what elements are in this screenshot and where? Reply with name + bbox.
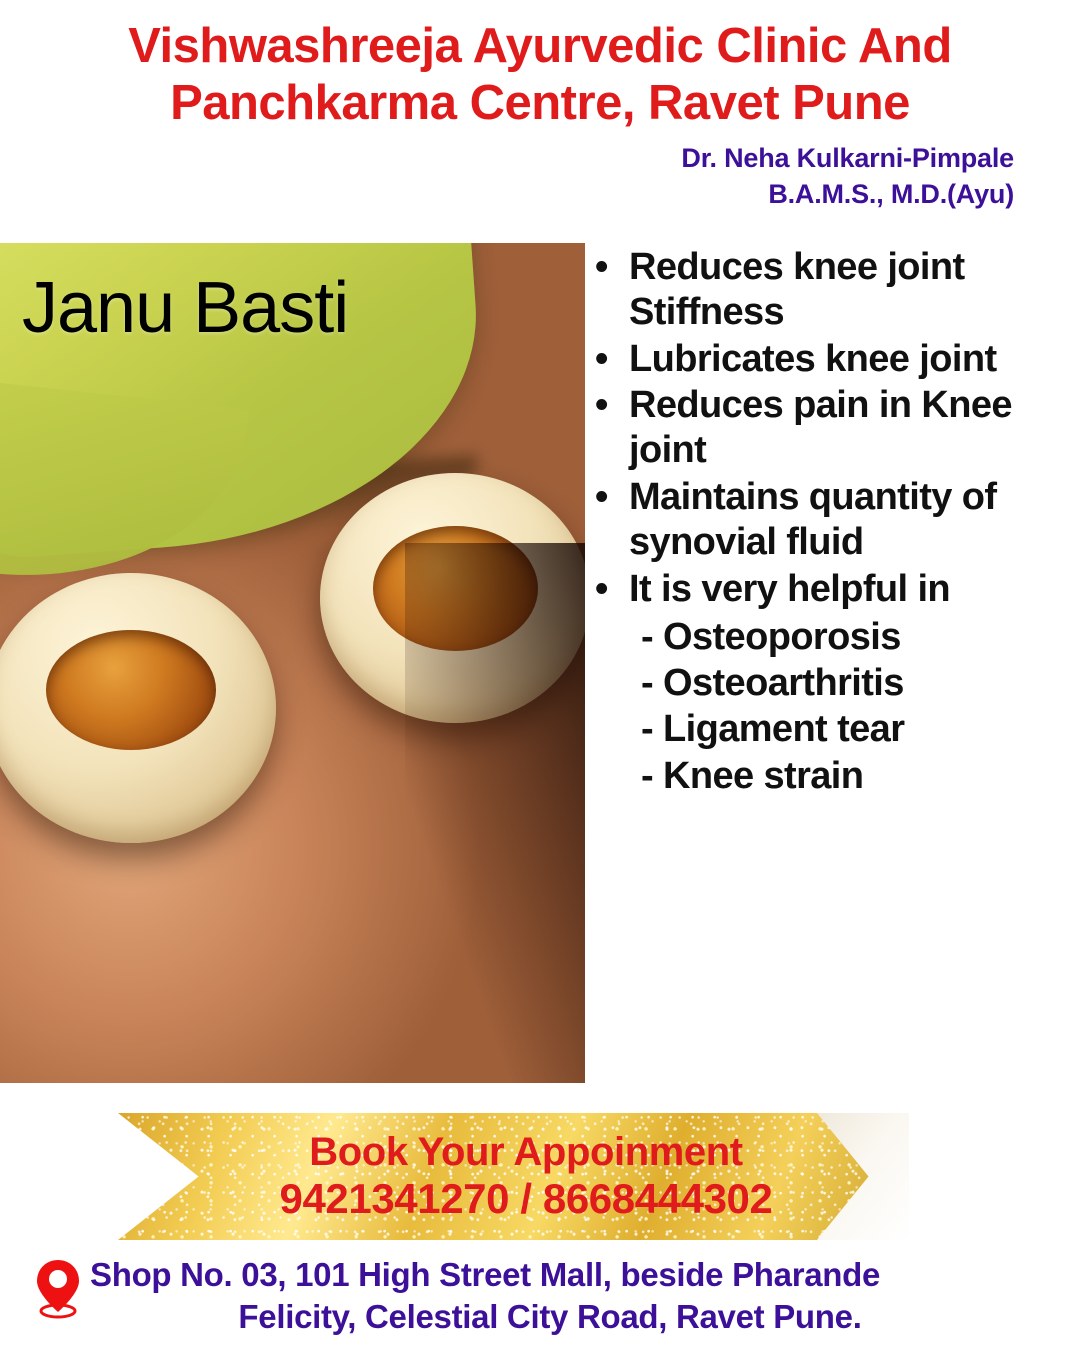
address-line-2: Felicity, Celestial City Road, Ravet Pun…: [90, 1296, 1050, 1338]
bullet-dot-icon: •: [595, 245, 629, 290]
benefit-text: Maintains quantity of synovial fluid: [629, 475, 1080, 565]
doctor-qualification: B.A.M.S., M.D.(Ayu): [0, 176, 1014, 212]
bullet-dot-icon: •: [595, 337, 629, 382]
benefit-sub-item: - Osteoporosis: [595, 614, 1080, 660]
appointment-phone-numbers[interactable]: 9421341270 / 8668444302: [280, 1177, 773, 1222]
benefit-sub-item: - Osteoarthritis: [595, 660, 1080, 706]
location-pin-icon: [34, 1254, 90, 1325]
list-item: • It is very helpful in: [595, 567, 1080, 612]
bullet-dot-icon: •: [595, 383, 629, 428]
list-item: • Reduces pain in Knee joint: [595, 383, 1080, 473]
benefit-text: Reduces pain in Knee joint: [629, 383, 1080, 473]
photo-shadow-bottom: [0, 783, 585, 1083]
doctor-credentials: Dr. Neha Kulkarni-Pimpale B.A.M.S., M.D.…: [0, 140, 1080, 213]
list-item: • Lubricates knee joint: [595, 337, 1080, 382]
poster-body: Janu Basti • Reduces knee joint Stiffnes…: [0, 243, 1080, 1085]
treatment-photo: Janu Basti: [0, 243, 585, 1083]
ribbon-content: Book Your Appoinment 9421341270 / 866844…: [118, 1113, 908, 1240]
benefit-sub-item: - Ligament tear: [595, 706, 1080, 752]
bullet-dot-icon: •: [595, 475, 629, 520]
appointment-heading: Book Your Appoinment: [309, 1131, 742, 1173]
list-item: • Maintains quantity of synovial fluid: [595, 475, 1080, 565]
benefit-sub-item: - Knee strain: [595, 753, 1080, 799]
benefit-text: Lubricates knee joint: [629, 337, 1080, 382]
list-item: • Reduces knee joint Stiffness: [595, 245, 1080, 335]
poster-header: Vishwashreeja Ayurvedic Clinic And Panch…: [0, 0, 1080, 213]
bullet-dot-icon: •: [595, 567, 629, 612]
benefits-list: • Reduces knee joint Stiffness • Lubrica…: [595, 245, 1080, 799]
address-text: Shop No. 03, 101 High Street Mall, besid…: [90, 1254, 1050, 1338]
clinic-title: Vishwashreeja Ayurvedic Clinic And Panch…: [0, 18, 1080, 132]
treatment-name-label: Janu Basti: [22, 267, 348, 349]
appointment-ribbon: Book Your Appoinment 9421341270 / 866844…: [118, 1113, 908, 1240]
address-line-1: Shop No. 03, 101 High Street Mall, besid…: [90, 1254, 1050, 1296]
doctor-name: Dr. Neha Kulkarni-Pimpale: [0, 140, 1014, 176]
benefit-text: Reduces knee joint Stiffness: [629, 245, 1080, 335]
benefit-text: It is very helpful in: [629, 567, 1080, 612]
address-block: Shop No. 03, 101 High Street Mall, besid…: [0, 1254, 1080, 1338]
oil-well-lower: [46, 630, 216, 750]
